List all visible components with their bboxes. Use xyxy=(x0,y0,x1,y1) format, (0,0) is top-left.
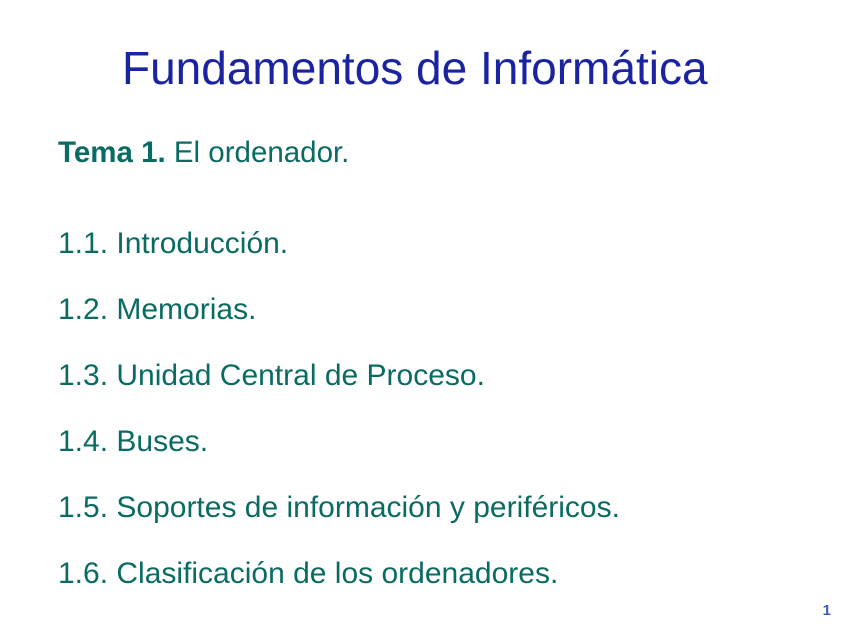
subtitle-topic-label: Tema 1. xyxy=(58,136,166,169)
toc-item-label: 1.5. Soportes de información y periféric… xyxy=(58,491,620,524)
list-item: 1.2. Memorias. xyxy=(58,277,620,343)
page-title: Fundamentos de Informática xyxy=(122,40,708,96)
table-of-contents: 1.1. Introducción. 1.2. Memorias. 1.3. U… xyxy=(58,211,620,607)
presentation-slide: Fundamentos de Informática Tema 1. El or… xyxy=(0,0,848,636)
list-item: 1.5. Soportes de información y periféric… xyxy=(58,475,620,541)
list-item: 1.6. Clasificación de los ordenadores. xyxy=(58,541,620,607)
toc-item-label: 1.4. Buses. xyxy=(58,425,208,458)
list-item: 1.1. Introducción. xyxy=(58,211,620,277)
toc-item-label: 1.6. Clasificación de los ordenadores. xyxy=(58,557,558,590)
toc-item-label: 1.1. Introducción. xyxy=(58,227,288,260)
toc-item-label: 1.3. Unidad Central de Proceso. xyxy=(58,359,485,392)
slide-subtitle: Tema 1. El ordenador. xyxy=(58,134,349,172)
subtitle-topic-name: El ordenador. xyxy=(166,136,350,169)
list-item: 1.3. Unidad Central de Proceso. xyxy=(58,343,620,409)
toc-item-label: 1.2. Memorias. xyxy=(58,293,256,326)
list-item: 1.4. Buses. xyxy=(58,409,620,475)
page-number: 1 xyxy=(823,603,831,619)
